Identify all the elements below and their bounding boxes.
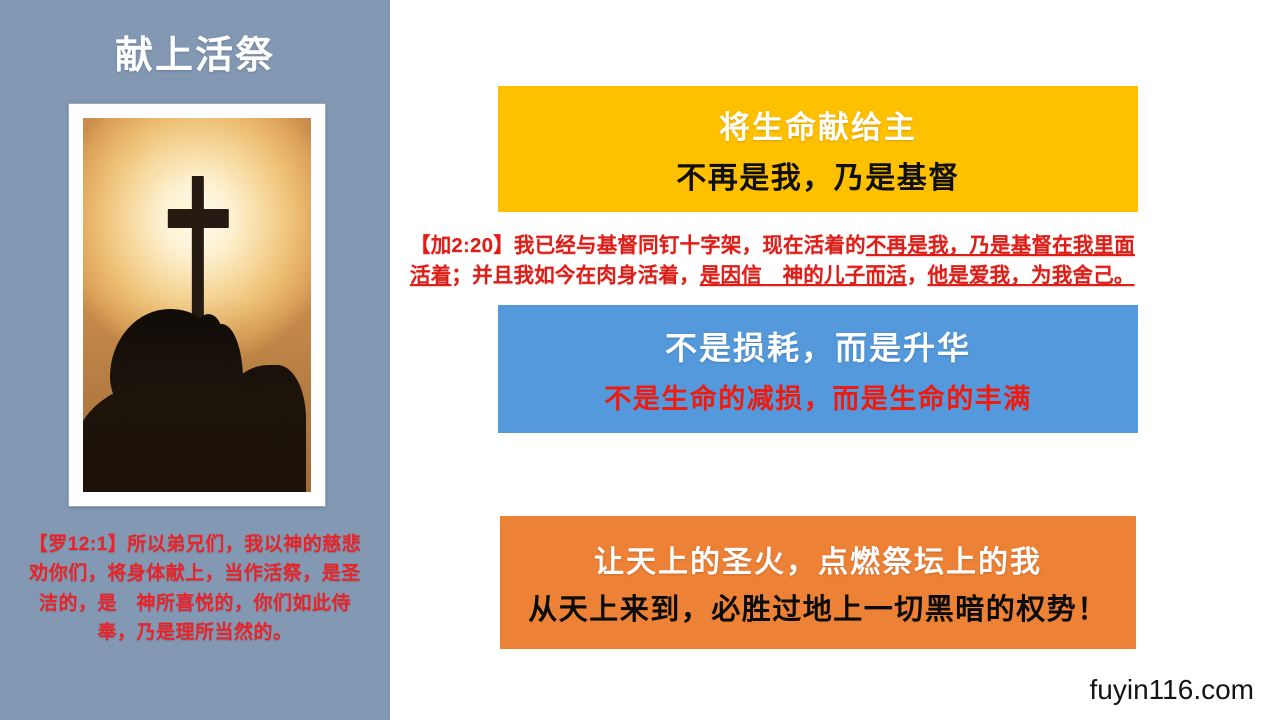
verse-gal-seg-e: 是因信 神的儿子而活 [700,264,907,287]
verse-gal-seg-c: 活着 [410,264,451,287]
highlight-band-orange: 让天上的圣火，点燃祭坛上的我 从天上来到，必胜过地上一切黑暗的权势！ [500,516,1136,649]
band-blue-line1: 不是损耗，而是升华 [665,323,971,369]
verse-gal-seg-d: ；并且我如今在肉身活着， [451,264,699,287]
content-area: 将生命献给主 不再是我，乃是基督 【加2:20】我已经与基督同钉十字架，现在活着… [390,0,1280,720]
sidebar-scripture-romans: 【罗12:1】所以弟兄们，我以神的慈悲劝你们，将身体献上，当作活祭，是圣洁的，是… [22,530,368,648]
sidebar-panel: 献上活祭 【罗12:1】所以弟兄们，我以神的慈悲劝你们，将身体献上，当作活祭，是… [0,0,390,720]
verse-gal-seg-a: 【加2:20】我已经与基督同钉十字架，现在活着的 [410,234,866,257]
slide-title: 献上活祭 [0,36,390,78]
photo-frame [68,103,326,507]
verse-gal-seg-b: 不再是我，乃是基督在我里面 [866,234,1135,257]
band-blue-line2: 不是生命的减损，而是生命的丰满 [604,377,1032,416]
band-orange-line2: 从天上来到，必胜过地上一切黑暗的权势！ [528,586,1108,628]
highlight-band-yellow: 将生命献给主 不再是我，乃是基督 [498,86,1138,212]
slide-canvas: 献上活祭 【罗12:1】所以弟兄们，我以神的慈悲劝你们，将身体献上，当作活祭，是… [0,0,1280,720]
band-yellow-line1: 将生命献给主 [719,102,917,147]
band-yellow-line2: 不再是我，乃是基督 [676,153,960,197]
verse-gal-seg-f: ， [907,264,928,287]
scripture-galatians-line1: 【加2:20】我已经与基督同钉十字架，现在活着的不再是我，乃是基督在我里面 [410,231,1262,261]
verse-gal-seg-g: 他是爱我，为我舍己。 [928,264,1135,287]
highlight-band-blue: 不是损耗，而是升华 不是生命的减损，而是生命的丰满 [498,305,1138,433]
scripture-galatians: 【加2:20】我已经与基督同钉十字架，现在活着的不再是我，乃是基督在我里面 活着… [410,231,1262,290]
band-orange-line1: 让天上的圣火，点燃祭坛上的我 [594,537,1042,581]
scripture-galatians-line2: 活着；并且我如今在肉身活着，是因信 神的儿子而活，他是爱我，为我舍己。 [410,261,1262,291]
site-watermark: fuyin116.com [1090,674,1254,706]
photo-vignette [83,118,311,492]
cross-silhouette-sunset-photo [83,118,311,492]
